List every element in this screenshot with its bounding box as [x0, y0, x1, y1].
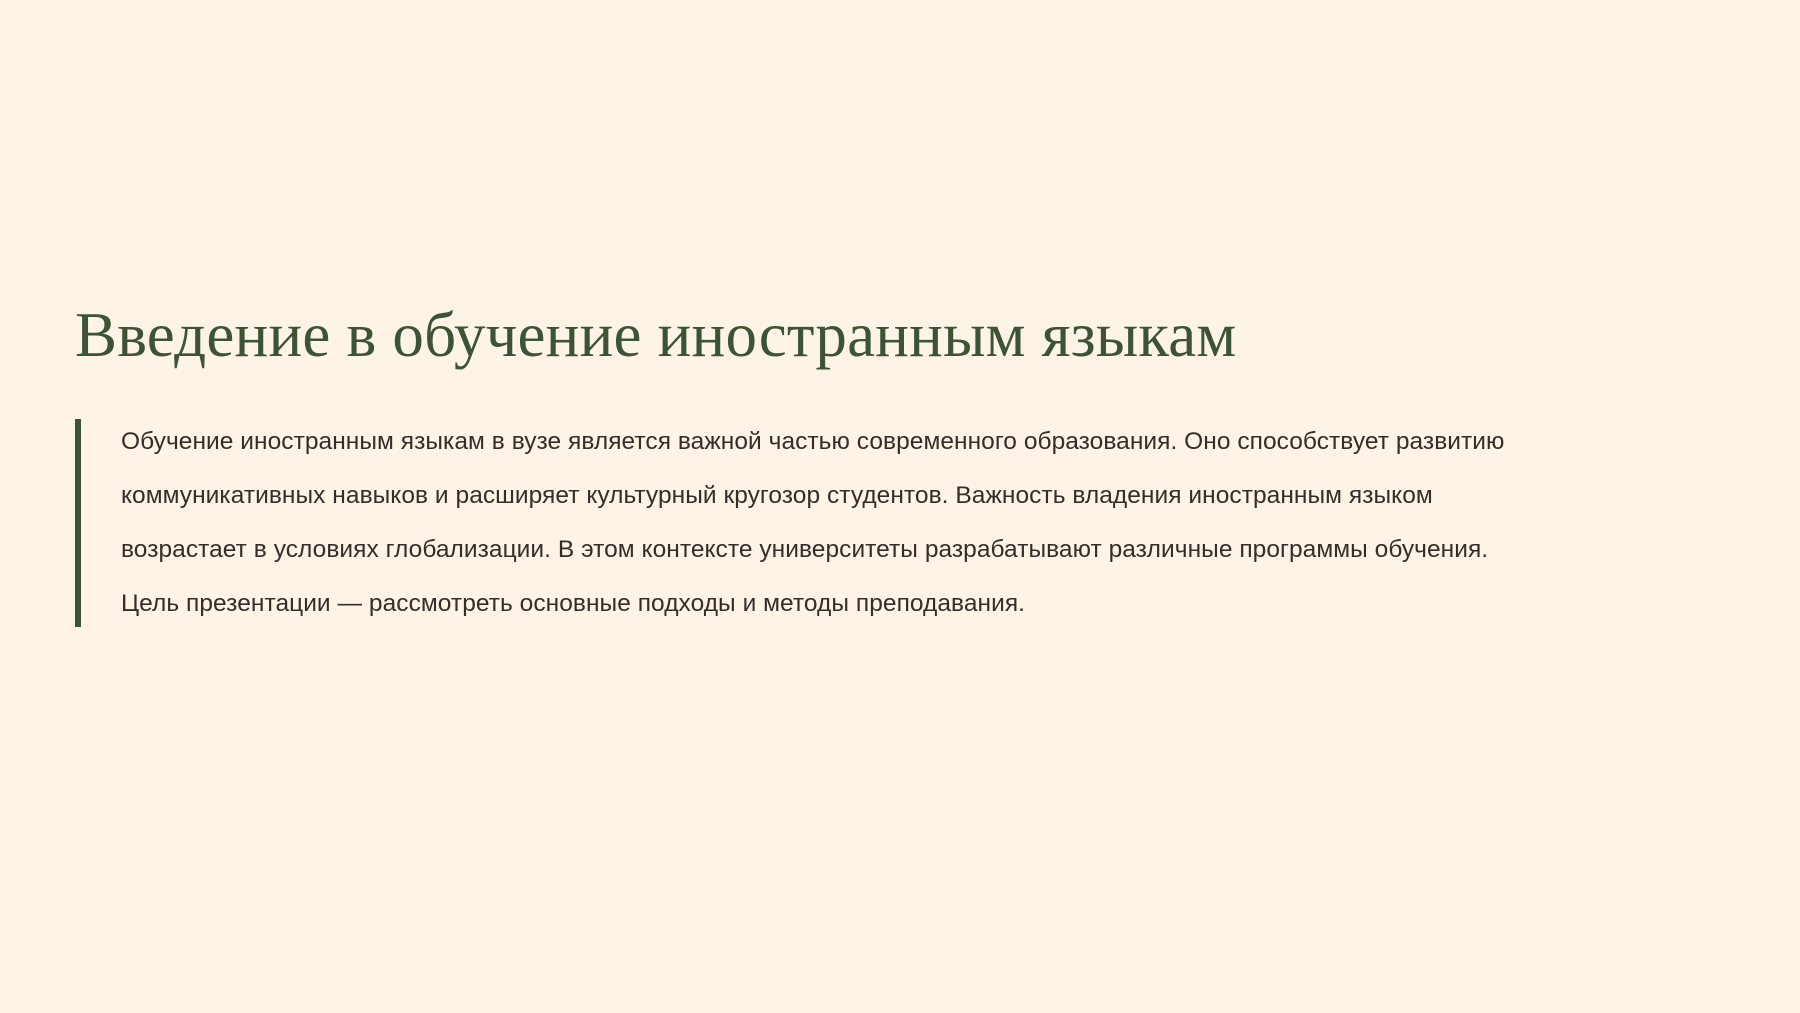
- body-paragraph: Обучение иностранным языкам в вузе являе…: [121, 415, 1511, 631]
- slide-content: Введение в обучение иностранным языкам О…: [75, 300, 1515, 631]
- page-title: Введение в обучение иностранным языкам: [75, 300, 1515, 371]
- accent-bar: [75, 419, 81, 627]
- presentation-slide: Введение в обучение иностранным языкам О…: [0, 0, 1800, 1013]
- quote-block: Обучение иностранным языкам в вузе являе…: [75, 415, 1515, 631]
